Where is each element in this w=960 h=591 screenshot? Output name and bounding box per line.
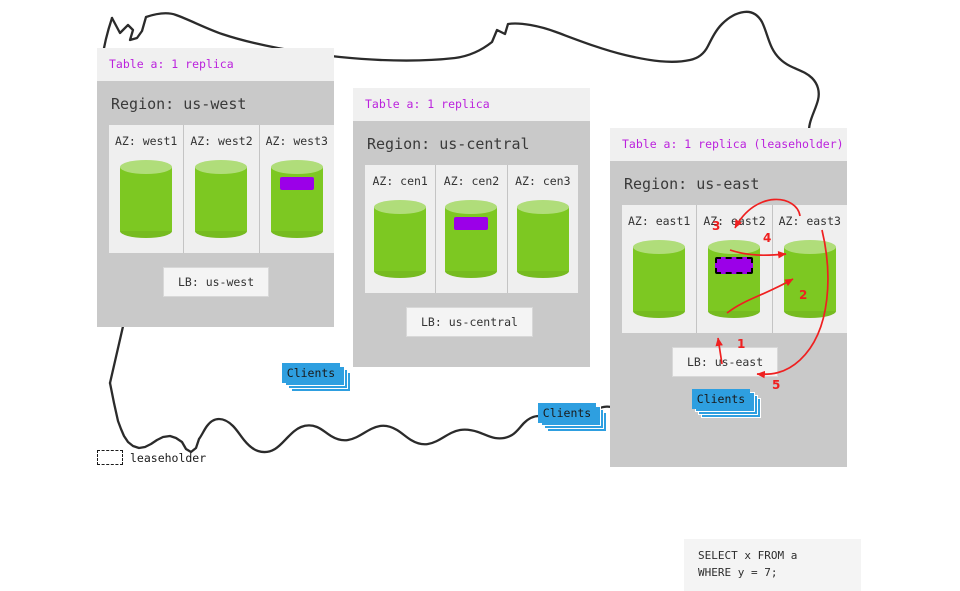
cylinder-east1[interactable] [633,240,685,318]
cylinder-top-west3 [271,160,323,174]
az-label-east1: AZ: east1 [628,214,690,228]
load-balancer-us-west[interactable]: LB: us-west [163,267,269,297]
az-cell-east2[interactable]: AZ: east2 [696,205,771,333]
replica-box-cen2[interactable] [454,217,488,230]
cylinder-body-cen3 [517,207,569,271]
az-label-west1: AZ: west1 [115,134,177,148]
az-label-east3: AZ: east3 [779,214,841,228]
region-panel-us-east: Table a: 1 replica (leaseholder) Region:… [610,128,847,467]
region-title-us-central: Region: us-central [367,135,576,153]
clients-us-central[interactable]: Clients [538,403,604,427]
az-label-cen2: AZ: cen2 [442,174,500,188]
replica-box-west3[interactable] [280,177,314,190]
flow-step-number-1: 1 [737,337,745,351]
az-cell-cen2[interactable]: AZ: cen2 [435,165,506,293]
flow-step-number-5: 5 [772,378,780,392]
cylinder-cen3[interactable] [517,200,569,278]
cylinder-body-cen1 [374,207,426,271]
az-cell-west3[interactable]: AZ: west3 [259,125,334,253]
az-row-us-west: AZ: west1 AZ: west2 AZ [109,125,322,253]
cylinder-east3[interactable] [784,240,836,318]
cylinder-east2[interactable] [708,240,760,318]
az-cell-cen3[interactable]: AZ: cen3 [507,165,578,293]
cylinder-top-cen1 [374,200,426,214]
clients-label-us-central[interactable]: Clients [538,403,596,423]
clients-label-us-west[interactable]: Clients [282,363,340,383]
cylinder-body-west2 [195,167,247,231]
cylinder-top-east3 [784,240,836,254]
cylinder-west1[interactable] [120,160,172,238]
region-title-us-east: Region: us-east [624,175,833,193]
region-header-label-us-east: Table a: 1 replica (leaseholder) [610,128,847,161]
replica-box-leaseholder-east2[interactable] [715,257,753,274]
flow-step-number-2: 2 [799,288,807,302]
cylinder-top-cen3 [517,200,569,214]
cylinder-top-east1 [633,240,685,254]
load-balancer-us-central[interactable]: LB: us-central [406,307,533,337]
region-body-us-west: Region: us-west AZ: west1 AZ: west2 [97,81,334,327]
az-cell-east1[interactable]: AZ: east1 [622,205,696,333]
az-label-west2: AZ: west2 [190,134,252,148]
region-header-label-us-west: Table a: 1 replica [97,48,334,81]
legend-label-leaseholder: leaseholder [130,451,206,465]
sql-query-box[interactable]: SELECT x FROM a WHERE y = 7; [684,539,861,591]
az-cell-west2[interactable]: AZ: west2 [183,125,258,253]
cylinder-body-east1 [633,247,685,311]
az-row-us-central: AZ: cen1 AZ: cen2 [365,165,578,293]
region-body-us-central: Region: us-central AZ: cen1 AZ: cen2 [353,121,590,367]
clients-us-east[interactable]: Clients [692,389,758,413]
legend: leaseholder [97,450,206,465]
region-panel-us-central: Table a: 1 replica Region: us-central AZ… [353,88,590,367]
cylinder-cen1[interactable] [374,200,426,278]
region-panel-us-west: Table a: 1 replica Region: us-west AZ: w… [97,48,334,327]
region-header-label-us-central: Table a: 1 replica [353,88,590,121]
az-label-cen1: AZ: cen1 [371,174,429,188]
flow-step-number-3: 3 [712,219,720,233]
az-row-us-east: AZ: east1 AZ: east2 [622,205,835,333]
az-label-cen3: AZ: cen3 [514,174,572,188]
clients-us-west[interactable]: Clients [282,363,348,387]
cylinder-body-west1 [120,167,172,231]
dashed-rect-icon [97,450,123,465]
load-balancer-us-east[interactable]: LB: us-east [672,347,778,377]
region-body-us-east: Region: us-east AZ: east1 AZ: east2 [610,161,847,467]
az-label-west3: AZ: west3 [266,134,328,148]
cylinder-top-west1 [120,160,172,174]
cylinder-west3[interactable] [271,160,323,238]
az-cell-west1[interactable]: AZ: west1 [109,125,183,253]
diagram-canvas: Table a: 1 replica Region: us-west AZ: w… [0,0,960,540]
flow-step-number-4: 4 [763,231,771,245]
cylinder-west2[interactable] [195,160,247,238]
cylinder-body-east3 [784,247,836,311]
az-cell-east3[interactable]: AZ: east3 [772,205,847,333]
clients-label-us-east[interactable]: Clients [692,389,750,409]
region-title-us-west: Region: us-west [111,95,320,113]
cylinder-cen2[interactable] [445,200,497,278]
az-cell-cen1[interactable]: AZ: cen1 [365,165,435,293]
